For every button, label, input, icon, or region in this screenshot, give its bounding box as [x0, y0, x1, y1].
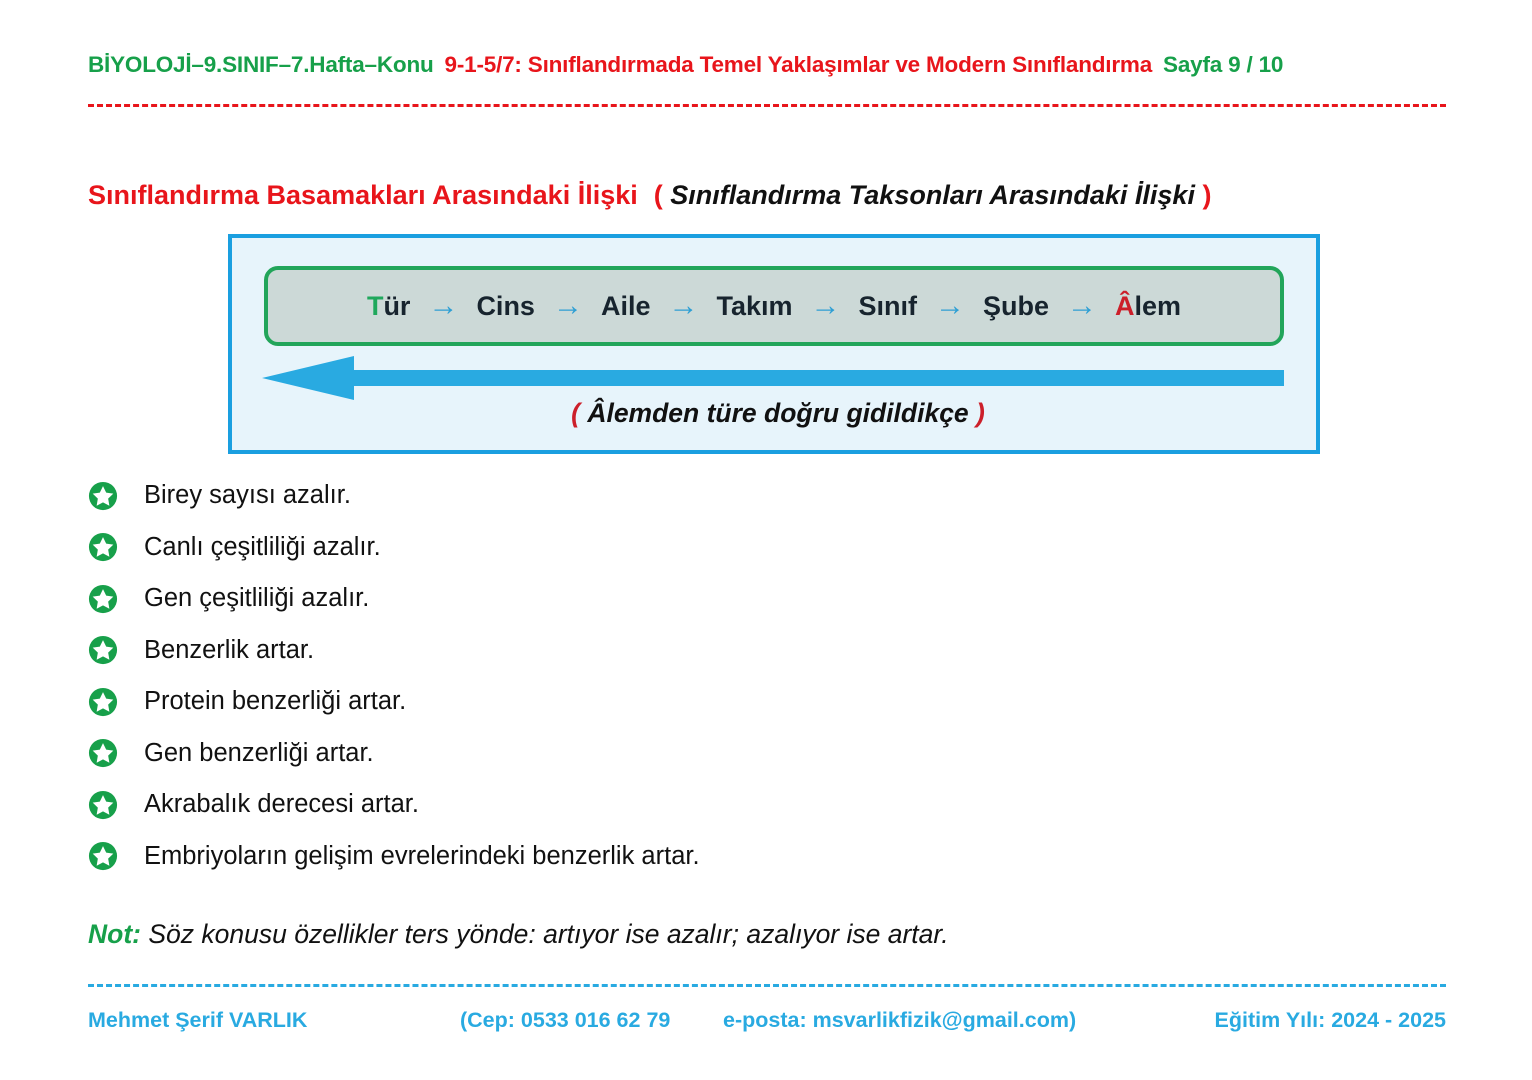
list-item-label: Akrabalık derecesi artar. — [144, 792, 419, 818]
list-item: Benzerlik artar. — [88, 625, 1388, 677]
taxon-takim: Takım — [700, 291, 808, 322]
list-item-label: Canlı çeşitliliği azalır. — [144, 535, 381, 561]
footer-author-name: Mehmet Şerif VARLIK — [88, 1008, 307, 1033]
list-item-label: Gen benzerliği artar. — [144, 741, 374, 767]
taxon-alem: Âlem — [1099, 291, 1197, 322]
taxonomy-diagram: Tür → Cins → Aile → Takım → Sınıf → Şube… — [228, 234, 1320, 454]
section-title-main: Sınıflandırma Basamakları Arasındaki İli… — [88, 180, 638, 210]
star-bullet-icon — [88, 481, 118, 511]
header-divider-rule — [88, 104, 1446, 107]
left-direction-arrow-icon — [262, 356, 1284, 400]
header-topic: 9-1-5/7: Sınıflandırmada Temel Yaklaşıml… — [445, 52, 1152, 77]
caption-text: Âlemden türe doğru gidildikçe — [587, 398, 968, 428]
list-item: Birey sayısı azalır. — [88, 470, 1388, 522]
list-item-label: Embriyoların gelişim evrelerindeki benze… — [144, 844, 700, 870]
list-item: Protein benzerliği artar. — [88, 676, 1388, 728]
taxon-tur: Tür — [351, 291, 427, 322]
consequences-list: Birey sayısı azalır. Canlı çeşitliliği a… — [88, 470, 1388, 882]
note-label: Not: — [88, 919, 141, 949]
taxonomy-chain: Tür → Cins → Aile → Takım → Sınıf → Şube… — [264, 266, 1284, 346]
list-item-label: Birey sayısı azalır. — [144, 483, 351, 509]
page-footer: Mehmet Şerif VARLIK (Cep: 0533 016 62 79… — [88, 1008, 1446, 1040]
section-title-paren-close: ) — [1202, 180, 1211, 210]
taxon-alem-rest: lem — [1135, 291, 1182, 321]
star-bullet-icon — [88, 738, 118, 768]
footer-phone: (Cep: 0533 016 62 79 — [460, 1008, 670, 1033]
chain-arrow-icon: → — [426, 291, 460, 321]
diagram-caption: ( Âlemden türe doğru gidildikçe ) — [232, 398, 1324, 429]
header-course: BİYOLOJİ–9.SINIF–7.Hafta–Konu — [88, 52, 434, 77]
list-item-label: Benzerlik artar. — [144, 638, 314, 664]
list-item-label: Protein benzerliği artar. — [144, 689, 406, 715]
header-page-number: Sayfa 9 / 10 — [1163, 52, 1283, 77]
caption-paren-close: ) — [976, 398, 985, 428]
chain-arrow-icon: → — [666, 291, 700, 321]
section-title: Sınıflandırma Basamakları Arasındaki İli… — [88, 180, 1211, 211]
taxon-sube: Şube — [967, 291, 1065, 322]
page-header: BİYOLOJİ–9.SINIF–7.Hafta–Konu9-1-5/7: Sı… — [88, 52, 1448, 78]
section-title-paren-open: ( — [654, 180, 663, 210]
list-item: Gen çeşitliliği azalır. — [88, 573, 1388, 625]
section-title-alt: Sınıflandırma Taksonları Arasındaki İliş… — [670, 180, 1195, 210]
chain-arrow-icon: → — [551, 291, 585, 321]
star-bullet-icon — [88, 687, 118, 717]
footer-divider-rule — [88, 984, 1446, 987]
chain-arrow-icon: → — [933, 291, 967, 321]
star-bullet-icon — [88, 790, 118, 820]
list-item: Embriyoların gelişim evrelerindeki benze… — [88, 831, 1388, 883]
note-line: Not: Söz konusu özellikler ters yönde: a… — [88, 919, 949, 950]
taxon-tur-rest: ür — [383, 291, 410, 321]
footer-email: e-posta: msvarlikfizik@gmail.com) — [723, 1008, 1076, 1033]
chain-arrow-icon: → — [1065, 291, 1099, 321]
star-bullet-icon — [88, 532, 118, 562]
taxon-tur-initial: T — [367, 291, 384, 321]
taxon-cins: Cins — [460, 291, 551, 322]
star-bullet-icon — [88, 584, 118, 614]
list-item: Canlı çeşitliliği azalır. — [88, 522, 1388, 574]
list-item-label: Gen çeşitliliği azalır. — [144, 586, 369, 612]
star-bullet-icon — [88, 635, 118, 665]
note-text: Söz konusu özellikler ters yönde: artıyo… — [148, 919, 948, 949]
list-item: Akrabalık derecesi artar. — [88, 779, 1388, 831]
footer-academic-year: Eğitim Yılı: 2024 - 2025 — [1215, 1008, 1446, 1033]
taxon-sinif: Sınıf — [843, 291, 934, 322]
taxon-alem-initial: Â — [1115, 291, 1135, 321]
chain-arrow-icon: → — [809, 291, 843, 321]
star-bullet-icon — [88, 841, 118, 871]
taxon-aile: Aile — [585, 291, 667, 322]
caption-paren-open: ( — [571, 398, 580, 428]
list-item: Gen benzerliği artar. — [88, 728, 1388, 780]
